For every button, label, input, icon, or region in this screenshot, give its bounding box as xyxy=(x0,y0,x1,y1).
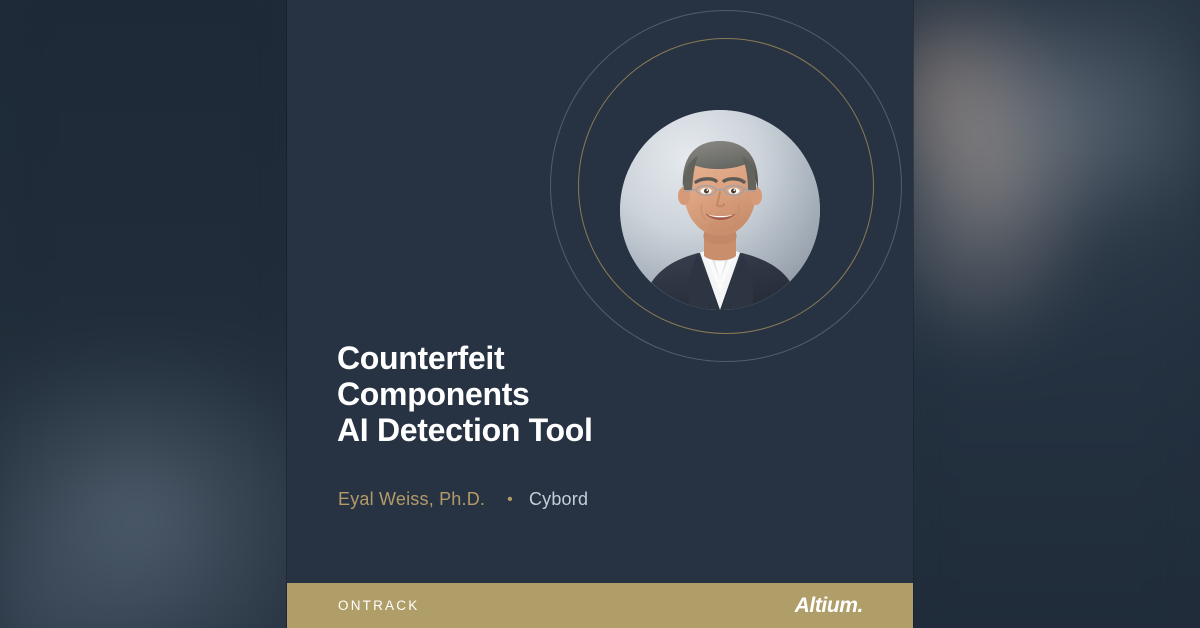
footer-bar: ONTRACK Altium. xyxy=(287,583,913,628)
altium-logo: Altium. xyxy=(795,594,863,618)
webinar-promo-card: Counterfeit Components AI Detection Tool… xyxy=(287,0,913,628)
bullet-separator-icon: • xyxy=(507,492,513,508)
blurred-backdrop-right xyxy=(882,0,1200,628)
title-line-3: AI Detection Tool xyxy=(337,412,877,448)
speaker-name: Eyal Weiss, Ph.D. xyxy=(338,489,485,510)
footer-brand-label: ONTRACK xyxy=(338,598,419,613)
page-title: Counterfeit Components AI Detection Tool xyxy=(337,340,877,448)
title-line-1: Counterfeit xyxy=(337,340,877,376)
blurred-backdrop-left xyxy=(0,0,318,628)
title-line-2: Components xyxy=(337,376,877,412)
speaker-byline: Eyal Weiss, Ph.D. • Cybord xyxy=(338,489,588,510)
speaker-organization: Cybord xyxy=(529,489,588,510)
speaker-headshot-photo xyxy=(620,110,820,310)
avatar xyxy=(620,110,820,310)
promo-card-canvas: Counterfeit Components AI Detection Tool… xyxy=(0,0,1200,628)
